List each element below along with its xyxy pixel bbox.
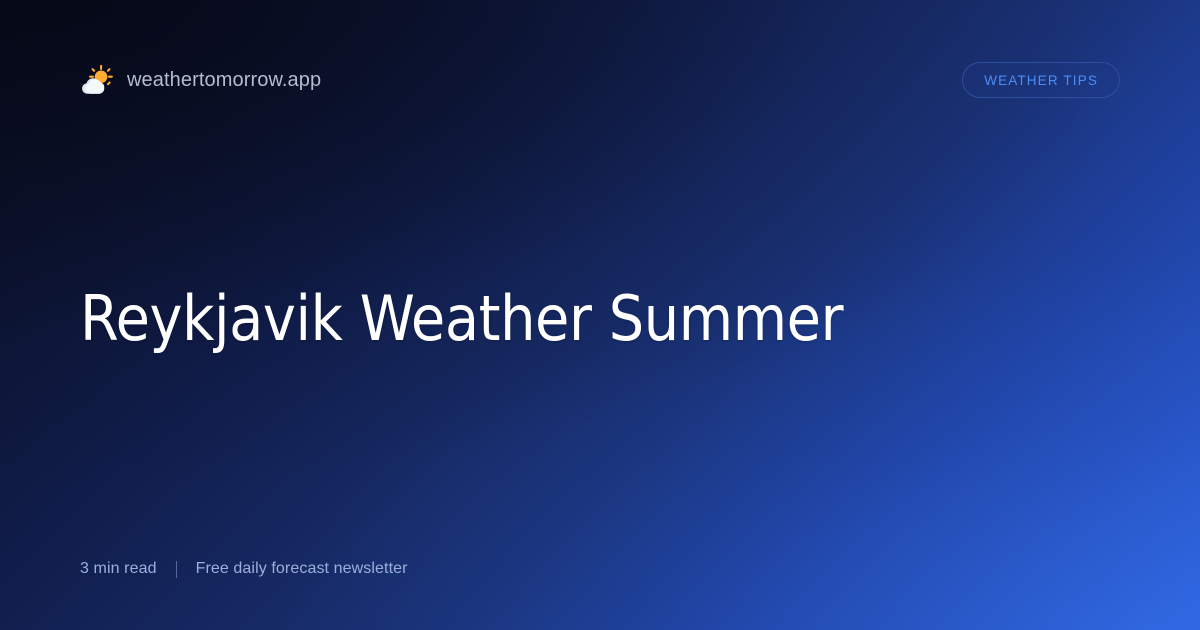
read-time: 3 min read: [80, 560, 157, 578]
header: weathertomorrow.app WEATHER TIPS: [80, 60, 1120, 100]
card-content: weathertomorrow.app WEATHER TIPS Reykjav…: [0, 0, 1200, 630]
article-meta: 3 min read Free daily forecast newslette…: [80, 560, 408, 578]
newsletter-label: Free daily forecast newsletter: [196, 560, 408, 578]
brand[interactable]: weathertomorrow.app: [80, 63, 321, 97]
brand-name: weathertomorrow.app: [127, 69, 321, 92]
weather-tips-button[interactable]: WEATHER TIPS: [962, 62, 1120, 98]
sun-behind-cloud-icon: [80, 63, 114, 97]
meta-separator: [176, 561, 177, 578]
og-card: weathertomorrow.app WEATHER TIPS Reykjav…: [0, 0, 1200, 630]
title-block: Reykjavik Weather Summer: [80, 286, 1120, 353]
page-title: Reykjavik Weather Summer: [80, 286, 1120, 353]
